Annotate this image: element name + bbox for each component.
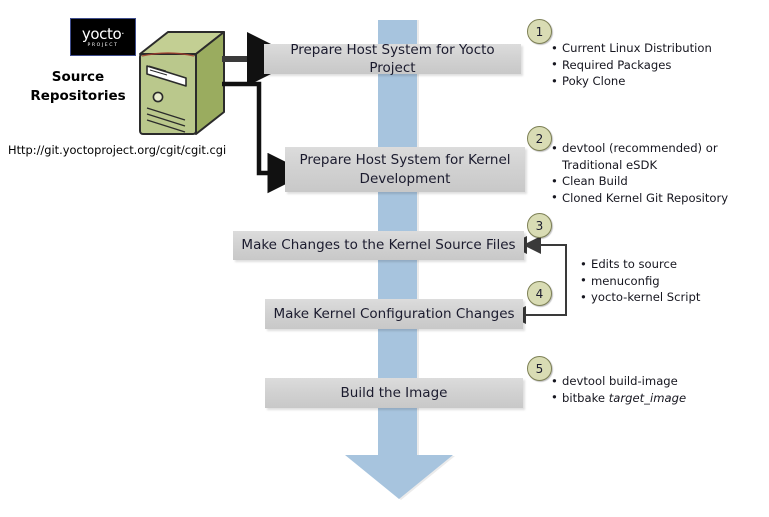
yocto-logo-wordmark: yocto·	[82, 27, 124, 42]
yocto-logo-text: yocto	[82, 25, 121, 43]
list-item: Cloned Kernel Git Repository	[551, 190, 730, 207]
flow-spine-arrowhead	[345, 455, 453, 499]
step-5-bullet-list: devtool build-image bitbake target_image	[551, 373, 686, 406]
arrow-server-to-step2	[222, 84, 272, 173]
bitbake-target-placeholder: target_image	[609, 391, 686, 405]
yocto-project-logo: yocto· PROJECT	[70, 18, 136, 56]
source-repositories-label: Source Repositories	[18, 68, 138, 106]
step-box-2[interactable]: Prepare Host System for Kernel Developme…	[285, 147, 525, 192]
list-item: menuconfig	[580, 273, 700, 290]
step-box-3[interactable]: Make Changes to the Kernel Source Files	[233, 231, 524, 260]
yocto-logo-subtext: PROJECT	[87, 43, 118, 48]
list-item: yocto-kernel Script	[580, 289, 700, 306]
list-item: Edits to source	[580, 256, 700, 273]
list-item: Clean Build	[551, 173, 730, 190]
source-repository-url: Http://git.yoctoproject.org/cgit/cgit.cg…	[8, 143, 226, 157]
step-number-3: 3	[527, 213, 552, 238]
list-item: Required Packages	[551, 57, 712, 74]
source-label-line2: Repositories	[18, 87, 138, 106]
step-number-1: 1	[527, 19, 552, 44]
list-item: Poky Clone	[551, 73, 712, 90]
step-number-4: 4	[527, 281, 552, 306]
bitbake-command-prefix: bitbake	[562, 391, 609, 405]
step-1-bullet-list: Current Linux Distribution Required Pack…	[551, 40, 712, 90]
list-item: bitbake target_image	[551, 390, 686, 407]
yocto-logo-dot: ·	[121, 29, 124, 40]
step-box-5[interactable]: Build the Image	[265, 378, 523, 408]
list-item: devtool build-image	[551, 373, 686, 390]
step-box-1[interactable]: Prepare Host System for Yocto Project	[264, 44, 521, 74]
source-label-line1: Source	[18, 68, 138, 87]
list-item: devtool (recommended) or Traditional eSD…	[551, 140, 730, 173]
list-item: Current Linux Distribution	[551, 40, 712, 57]
server-tower-icon	[136, 30, 228, 142]
step-2-bullet-list: devtool (recommended) or Traditional eSD…	[551, 140, 730, 206]
step-box-4[interactable]: Make Kernel Configuration Changes	[265, 299, 523, 329]
diagram-canvas: yocto· PROJECT Source Repositories Http:…	[0, 0, 769, 517]
step-number-2: 2	[527, 126, 552, 151]
step-number-5: 5	[527, 356, 552, 381]
step-3-4-bullet-list: Edits to source menuconfig yocto-kernel …	[580, 256, 700, 306]
